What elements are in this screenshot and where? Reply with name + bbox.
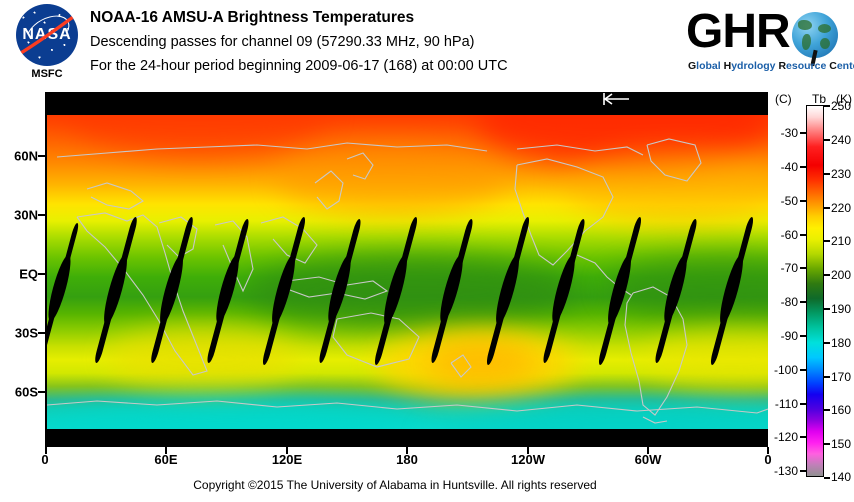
cb-label-c-80: -80 (758, 295, 798, 309)
cb-tick-k-210 (824, 240, 830, 242)
cb-label-c-30: -30 (758, 126, 798, 140)
cb-label-c-40: -40 (758, 160, 798, 174)
cb-label-c-60: -60 (758, 228, 798, 242)
cb-tick-c-130 (800, 470, 806, 472)
cb-tick-c-40 (800, 166, 806, 168)
cb-label-c-110: -110 (758, 397, 798, 411)
copyright-notice: Copyright ©2015 The University of Alabam… (0, 478, 790, 492)
cb-tick-c-80 (800, 301, 806, 303)
cb-tick-k-200 (824, 274, 830, 276)
chart-subtitle-channel: Descending passes for channel 09 (57290.… (90, 30, 650, 54)
cb-label-k-150: 150 (831, 437, 851, 451)
x-axis-label-60e: 60E (154, 452, 177, 467)
x-axis-label-120w: 120W (511, 452, 545, 467)
cb-tick-k-150 (824, 443, 830, 445)
y-tick-60n (38, 155, 45, 157)
ghrc-sub-c: C (829, 60, 837, 72)
y-axis-label-60s: 60S (0, 385, 38, 400)
chart-title: NOAA-16 AMSU-A Brightness Temperatures (90, 6, 650, 30)
colorbar-gradient (806, 105, 824, 477)
cb-tick-c-110 (800, 403, 806, 405)
x-axis-label-0: 0 (41, 452, 48, 467)
no-data-band-bottom (47, 429, 768, 436)
cb-tick-c-30 (800, 132, 806, 134)
cb-label-c-90: -90 (758, 329, 798, 343)
cb-label-c-130: -130 (758, 464, 798, 478)
ghrc-sub-r: R (778, 60, 786, 72)
y-axis-label-eq: EQ (0, 267, 38, 282)
cb-tick-c-100 (800, 369, 806, 371)
no-data-band-top (47, 105, 768, 115)
ghrc-wordmark: GHR (686, 6, 790, 58)
cb-label-k-220: 220 (831, 201, 851, 215)
cb-label-k-230: 230 (831, 167, 851, 181)
cb-tick-k-250 (824, 105, 830, 107)
cb-tick-c-60 (800, 234, 806, 236)
y-tick-eq (38, 273, 45, 275)
nasa-swoosh-icon (16, 10, 78, 60)
cb-label-k-140: 140 (831, 470, 851, 484)
y-axis-label-60n: 60N (0, 149, 38, 164)
cb-tick-c-70 (800, 267, 806, 269)
brightness-temperature-map[interactable] (47, 105, 768, 436)
y-tick-60s (38, 391, 45, 393)
y-axis-label-30s: 30S (0, 326, 38, 341)
cb-tick-c-90 (800, 335, 806, 337)
y-tick-30s (38, 332, 45, 334)
cb-tick-k-240 (824, 139, 830, 141)
colorbar-unit-celsius: (C) (775, 92, 792, 106)
cb-label-k-200: 200 (831, 268, 851, 282)
descending-pass-arrow-icon (600, 92, 630, 106)
ghrc-logo: GHR Global Hydrology Resource Center (686, 6, 848, 80)
cb-label-c-70: -70 (758, 261, 798, 275)
nasa-insignia-circle: NASA (16, 4, 78, 66)
ghrc-subtitle: Global Hydrology Resource Center (688, 60, 854, 72)
x-axis-label-60w: 60W (635, 452, 662, 467)
ghrc-sub-esource: esource (786, 60, 829, 72)
cb-tick-k-180 (824, 342, 830, 344)
cb-label-k-240: 240 (831, 133, 851, 147)
page-header: NASA MSFC NOAA-16 AMSU-A Brightness Temp… (0, 0, 854, 88)
cb-label-k-250: 250 (831, 99, 851, 113)
chart-title-block: NOAA-16 AMSU-A Brightness Temperatures D… (90, 6, 650, 78)
cb-tick-k-230 (824, 173, 830, 175)
cb-tick-k-190 (824, 308, 830, 310)
nasa-center-label: MSFC (10, 68, 84, 80)
cb-label-k-170: 170 (831, 370, 851, 384)
colorbar: (C) Tb (K) 250 240 230 220 210 200 190 1… (800, 92, 854, 487)
nasa-logo: NASA MSFC (10, 4, 84, 86)
y-tick-30n (38, 214, 45, 216)
cb-tick-k-160 (824, 409, 830, 411)
coastline-overlay (47, 105, 768, 436)
colorbar-variable-label: Tb (812, 92, 826, 106)
map-plot-frame (45, 92, 768, 447)
chart-subtitle-period: For the 24-hour period beginning 2009-06… (90, 54, 650, 78)
y-axis-label-30n: 30N (0, 208, 38, 223)
cb-label-k-160: 160 (831, 403, 851, 417)
ghrc-sub-ydrology: ydrology (731, 60, 778, 72)
cb-tick-k-170 (824, 376, 830, 378)
cb-tick-k-140 (824, 477, 830, 479)
ghrc-sub-g: G (688, 60, 696, 72)
x-axis-label-180: 180 (396, 452, 418, 467)
cb-tick-c-120 (800, 436, 806, 438)
cb-label-c-50: -50 (758, 194, 798, 208)
cb-tick-k-220 (824, 207, 830, 209)
cb-label-k-180: 180 (831, 336, 851, 350)
ghrc-sub-enter: enter (837, 60, 854, 72)
cb-label-c-120: -120 (758, 430, 798, 444)
cb-label-k-190: 190 (831, 302, 851, 316)
cb-label-k-210: 210 (831, 234, 851, 248)
cb-label-c-100: -100 (758, 363, 798, 377)
cb-tick-c-50 (800, 200, 806, 202)
ghrc-sub-lobal: lobal (696, 60, 723, 72)
x-axis-label-120e: 120E (272, 452, 302, 467)
